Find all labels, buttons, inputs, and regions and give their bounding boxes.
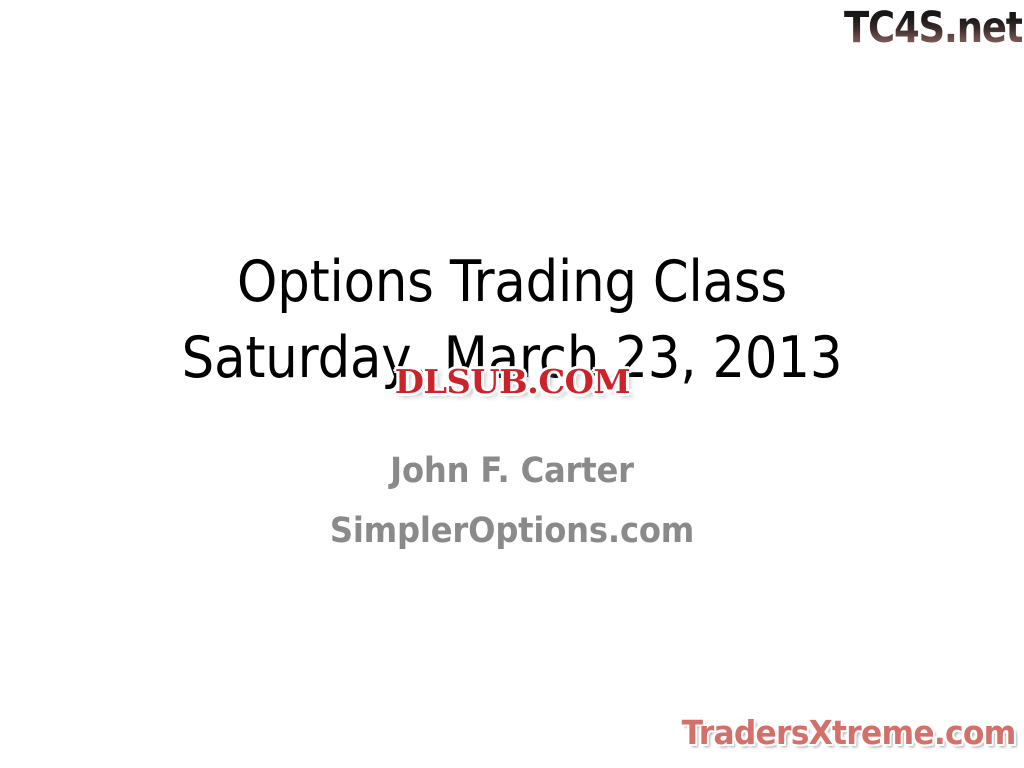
- slide-title-line-1: Options Trading Class: [51, 244, 973, 320]
- dlsub-com-watermark-text: DLSUB.COM: [394, 365, 629, 399]
- slide-subtitle: John F. Carter SimplerOptions.com: [0, 442, 1024, 562]
- presenter-website: SimplerOptions.com: [41, 500, 983, 562]
- presentation-slide: TC4S.net Options Trading Class Saturday,…: [0, 0, 1024, 768]
- tc4s-net-logo-text: TC4S.net: [844, 6, 1022, 50]
- presenter-name: John F. Carter: [41, 442, 983, 500]
- dlsub-com-watermark: DLSUB.COM: [366, 361, 658, 403]
- tradersxtreme-com-logo-text: TradersXtreme.com: [682, 715, 1016, 751]
- tc4s-net-logo[interactable]: TC4S.net: [834, 2, 1022, 54]
- tradersxtreme-com-logo[interactable]: TradersXtreme.com: [676, 708, 1016, 758]
